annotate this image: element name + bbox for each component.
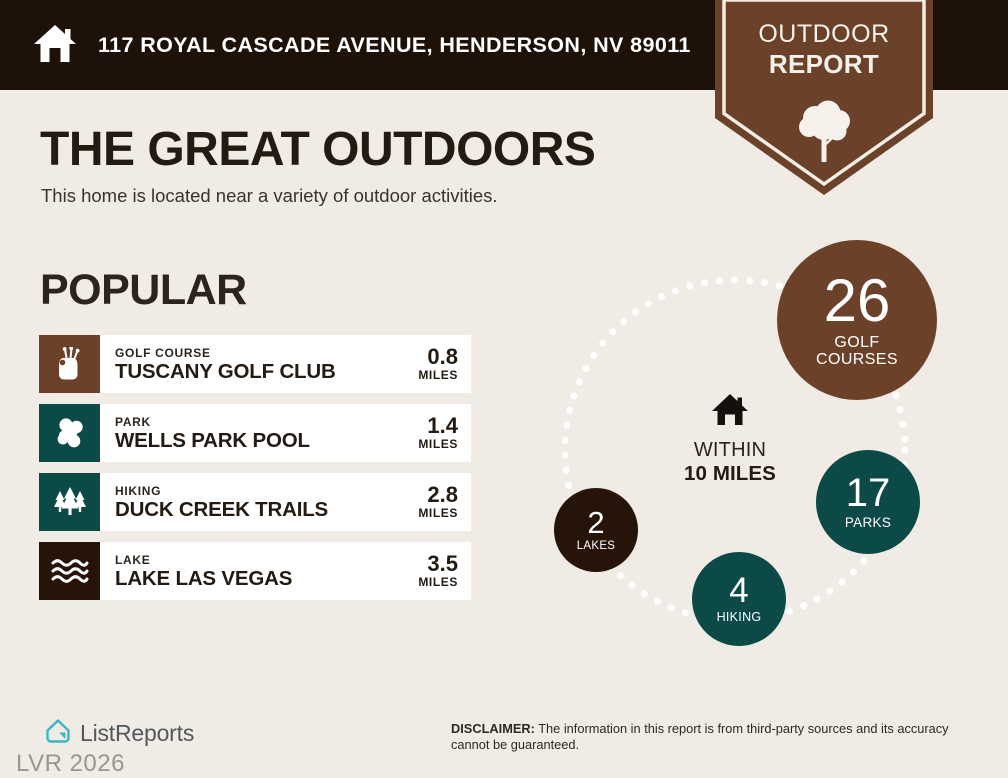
list-item-distance: 0.8 MILES — [384, 335, 471, 393]
stat-value: 2 — [587, 507, 604, 538]
listreports-house-icon — [45, 718, 71, 749]
distance-value: 2.8 — [427, 483, 458, 506]
listreports-logo[interactable]: ListReports — [45, 718, 194, 749]
stat-circle-lakes[interactable]: 2 LAKES — [554, 488, 638, 572]
center-line-2: 10 MILES — [665, 462, 795, 486]
stat-circle-parks[interactable]: 17 PARKS — [816, 450, 920, 554]
stat-circle-hiking[interactable]: 4 HIKING — [692, 552, 786, 646]
list-item-category: GOLF COURSE — [115, 346, 384, 360]
list-item-category: LAKE — [115, 553, 384, 567]
list-item-distance: 1.4 MILES — [384, 404, 471, 462]
stat-label: LAKES — [577, 540, 616, 552]
list-item-name: LAKE LAS VEGAS — [115, 567, 384, 590]
stat-value: 17 — [846, 473, 891, 513]
stat-value: 4 — [729, 573, 748, 608]
list-item[interactable]: HIKING DUCK CREEK TRAILS 2.8 MILES — [39, 473, 471, 531]
list-item-text: PARK WELLS PARK POOL — [100, 404, 384, 462]
home-icon — [32, 20, 78, 71]
stat-label-line-1: GOLF — [834, 334, 879, 351]
disclaimer: DISCLAIMER: The information in this repo… — [451, 721, 981, 752]
listreports-logo-text: ListReports — [80, 720, 194, 747]
stat-label: GOLF COURSES — [816, 335, 898, 369]
list-item-category: HIKING — [115, 484, 384, 498]
distance-unit: MILES — [418, 575, 458, 590]
distance-unit: MILES — [418, 437, 458, 452]
list-item-text: LAKE LAKE LAS VEGAS — [100, 542, 384, 600]
pine-trees-icon — [39, 473, 100, 531]
list-item-text: GOLF COURSE TUSCANY GOLF CLUB — [100, 335, 384, 393]
stat-circle-golf-courses[interactable]: 26 GOLF COURSES — [777, 240, 937, 400]
popular-heading: POPULAR — [40, 266, 247, 315]
distance-unit: MILES — [418, 506, 458, 521]
waves-icon — [39, 542, 100, 600]
page-subtitle: This home is located near a variety of o… — [41, 185, 498, 207]
header-address: 117 ROYAL CASCADE AVENUE, HENDERSON, NV … — [98, 33, 691, 58]
list-item-category: PARK — [115, 415, 384, 429]
outdoor-report-badge: OUTDOOR REPORT — [715, 0, 933, 195]
golf-bag-icon — [39, 335, 100, 393]
park-icon — [39, 404, 100, 462]
stat-value: 26 — [824, 271, 891, 331]
stat-label: PARKS — [845, 516, 891, 530]
list-item[interactable]: GOLF COURSE TUSCANY GOLF CLUB 0.8 MILES — [39, 335, 471, 393]
list-item-name: DUCK CREEK TRAILS — [115, 498, 384, 521]
stats-cluster: 26 GOLF COURSES 17 PARKS 4 HIKING 2 LAKE… — [500, 215, 1008, 685]
center-line-1: WITHIN — [665, 439, 795, 462]
stat-label-line-2: COURSES — [816, 351, 898, 368]
list-item-distance: 2.8 MILES — [384, 473, 471, 531]
home-icon — [665, 392, 795, 432]
page-title: THE GREAT OUTDOORS — [40, 122, 595, 178]
cluster-center: WITHIN 10 MILES — [665, 392, 795, 486]
list-item[interactable]: PARK WELLS PARK POOL 1.4 MILES — [39, 404, 471, 462]
list-item-name: TUSCANY GOLF CLUB — [115, 360, 384, 383]
distance-value: 0.8 — [427, 345, 458, 368]
tree-icon — [795, 100, 853, 167]
list-item[interactable]: LAKE LAKE LAS VEGAS 3.5 MILES — [39, 542, 471, 600]
list-item-name: WELLS PARK POOL — [115, 429, 384, 452]
disclaimer-label: DISCLAIMER: — [451, 721, 535, 736]
list-item-text: HIKING DUCK CREEK TRAILS — [100, 473, 384, 531]
stat-label: HIKING — [717, 611, 762, 624]
watermark: LVR 2026 — [16, 750, 125, 778]
popular-list: GOLF COURSE TUSCANY GOLF CLUB 0.8 MILES — [39, 335, 471, 611]
distance-unit: MILES — [418, 368, 458, 383]
distance-value: 1.4 — [427, 414, 458, 437]
distance-value: 3.5 — [427, 552, 458, 575]
list-item-distance: 3.5 MILES — [384, 542, 471, 600]
